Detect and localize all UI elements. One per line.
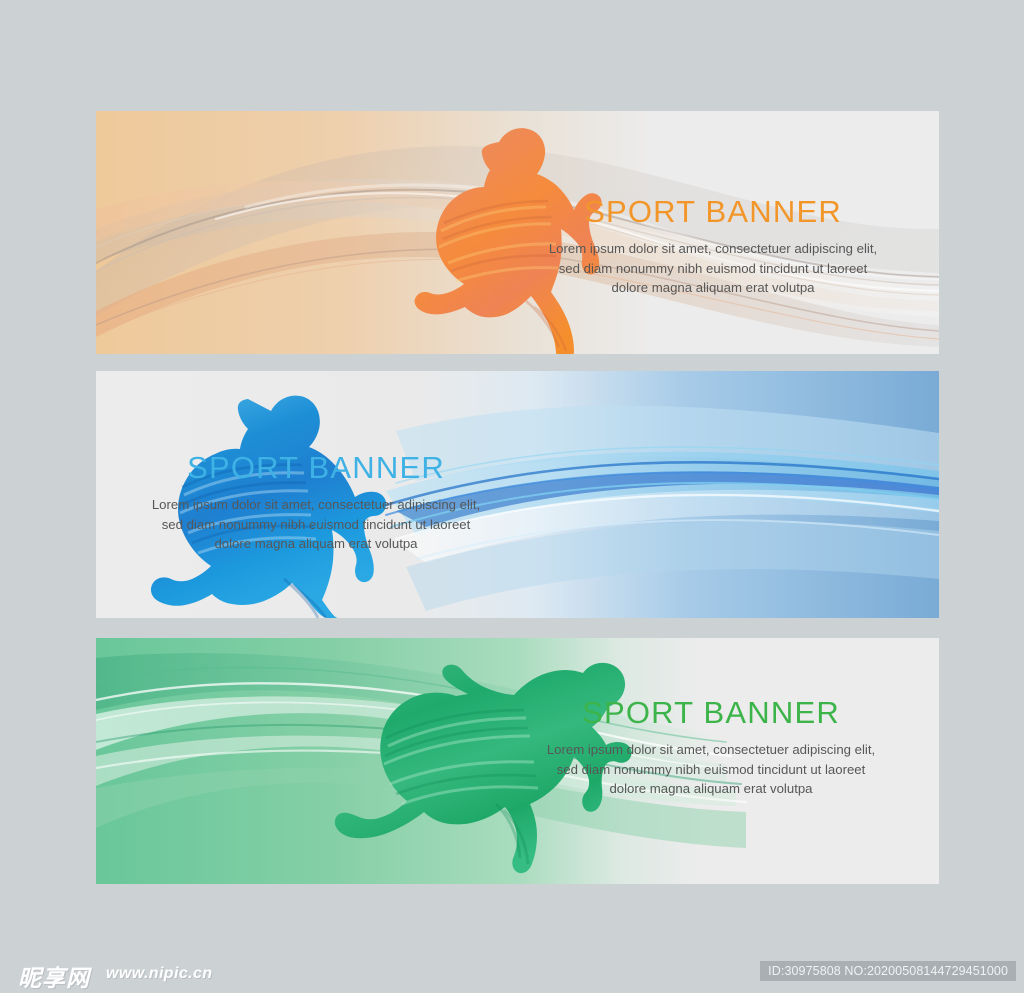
- banner-blue-copy: SPORT BANNER Lorem ipsum dolor sit amet,…: [151, 451, 481, 554]
- banner-green-body: Lorem ipsum dolor sit amet, consectetuer…: [546, 740, 876, 799]
- watermark-bar: 昵享网 www.nipic.cn ID:30975808 NO:20200508…: [0, 950, 1024, 993]
- image-id-badge: ID:30975808 NO:20200508144729451000: [760, 961, 1016, 981]
- banner-blue: SPORT BANNER Lorem ipsum dolor sit amet,…: [96, 371, 939, 618]
- banner-blue-body: Lorem ipsum dolor sit amet, consectetuer…: [151, 495, 481, 554]
- banner-green-copy: SPORT BANNER Lorem ipsum dolor sit amet,…: [546, 696, 876, 799]
- banner-orange-copy: SPORT BANNER Lorem ipsum dolor sit amet,…: [548, 195, 878, 298]
- watermark-url: www.nipic.cn: [106, 965, 212, 983]
- banner-orange-body: Lorem ipsum dolor sit amet, consectetuer…: [548, 239, 878, 298]
- nipic-logo: 昵享网: [18, 959, 90, 993]
- banner-green-title: SPORT BANNER: [546, 696, 876, 730]
- banner-orange: SPORT BANNER Lorem ipsum dolor sit amet,…: [96, 111, 939, 354]
- banner-green: SPORT BANNER Lorem ipsum dolor sit amet,…: [96, 638, 939, 884]
- banner-orange-title: SPORT BANNER: [548, 195, 878, 229]
- banner-blue-title: SPORT BANNER: [151, 451, 481, 485]
- poster-canvas: SPORT BANNER Lorem ipsum dolor sit amet,…: [0, 0, 1024, 993]
